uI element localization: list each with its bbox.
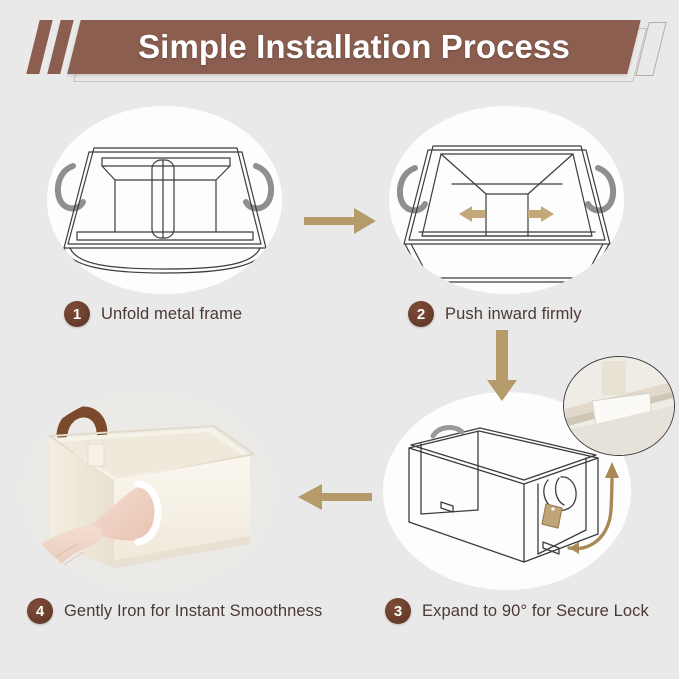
secure-lock-curved-arrow bbox=[569, 462, 619, 554]
step-1-line-art bbox=[47, 106, 282, 294]
arrow-step2-to-step3 bbox=[477, 328, 527, 404]
fabric-label bbox=[88, 444, 104, 466]
inset-photo-art bbox=[564, 357, 675, 456]
step-3-caption-text: Expand to 90° for Secure Lock bbox=[422, 602, 649, 621]
step-2-caption-text: Push inward firmly bbox=[445, 305, 582, 324]
header-banner: Simple Installation Process bbox=[0, 0, 679, 96]
step-1-caption: 1 Unfold metal frame bbox=[64, 301, 242, 327]
step-2-caption: 2 Push inward firmly bbox=[408, 301, 582, 327]
step-3-caption: 3 Expand to 90° for Secure Lock bbox=[385, 598, 649, 624]
arrow-step3-to-step4 bbox=[292, 472, 376, 522]
step-1-caption-text: Unfold metal frame bbox=[101, 305, 242, 324]
step-4-caption-text: Gently Iron for Instant Smoothness bbox=[64, 602, 322, 621]
push-inward-arrows bbox=[459, 206, 554, 222]
step-4-product-photo bbox=[22, 392, 274, 590]
step-1-illustration-circle bbox=[47, 106, 282, 294]
lock-mechanism-closeup-inset bbox=[563, 356, 675, 456]
step-4-badge: 4 bbox=[27, 598, 53, 624]
step-4-caption: 4 Gently Iron for Instant Smoothness bbox=[27, 598, 322, 624]
step-2-illustration-circle bbox=[389, 106, 624, 294]
page-title: Simple Installation Process bbox=[74, 20, 634, 74]
step-2-line-art bbox=[389, 106, 624, 294]
step-4-illustration-circle bbox=[22, 392, 274, 590]
step-2-badge: 2 bbox=[408, 301, 434, 327]
arrow-step1-to-step2 bbox=[300, 196, 380, 246]
step-1-badge: 1 bbox=[64, 301, 90, 327]
step-3-badge: 3 bbox=[385, 598, 411, 624]
